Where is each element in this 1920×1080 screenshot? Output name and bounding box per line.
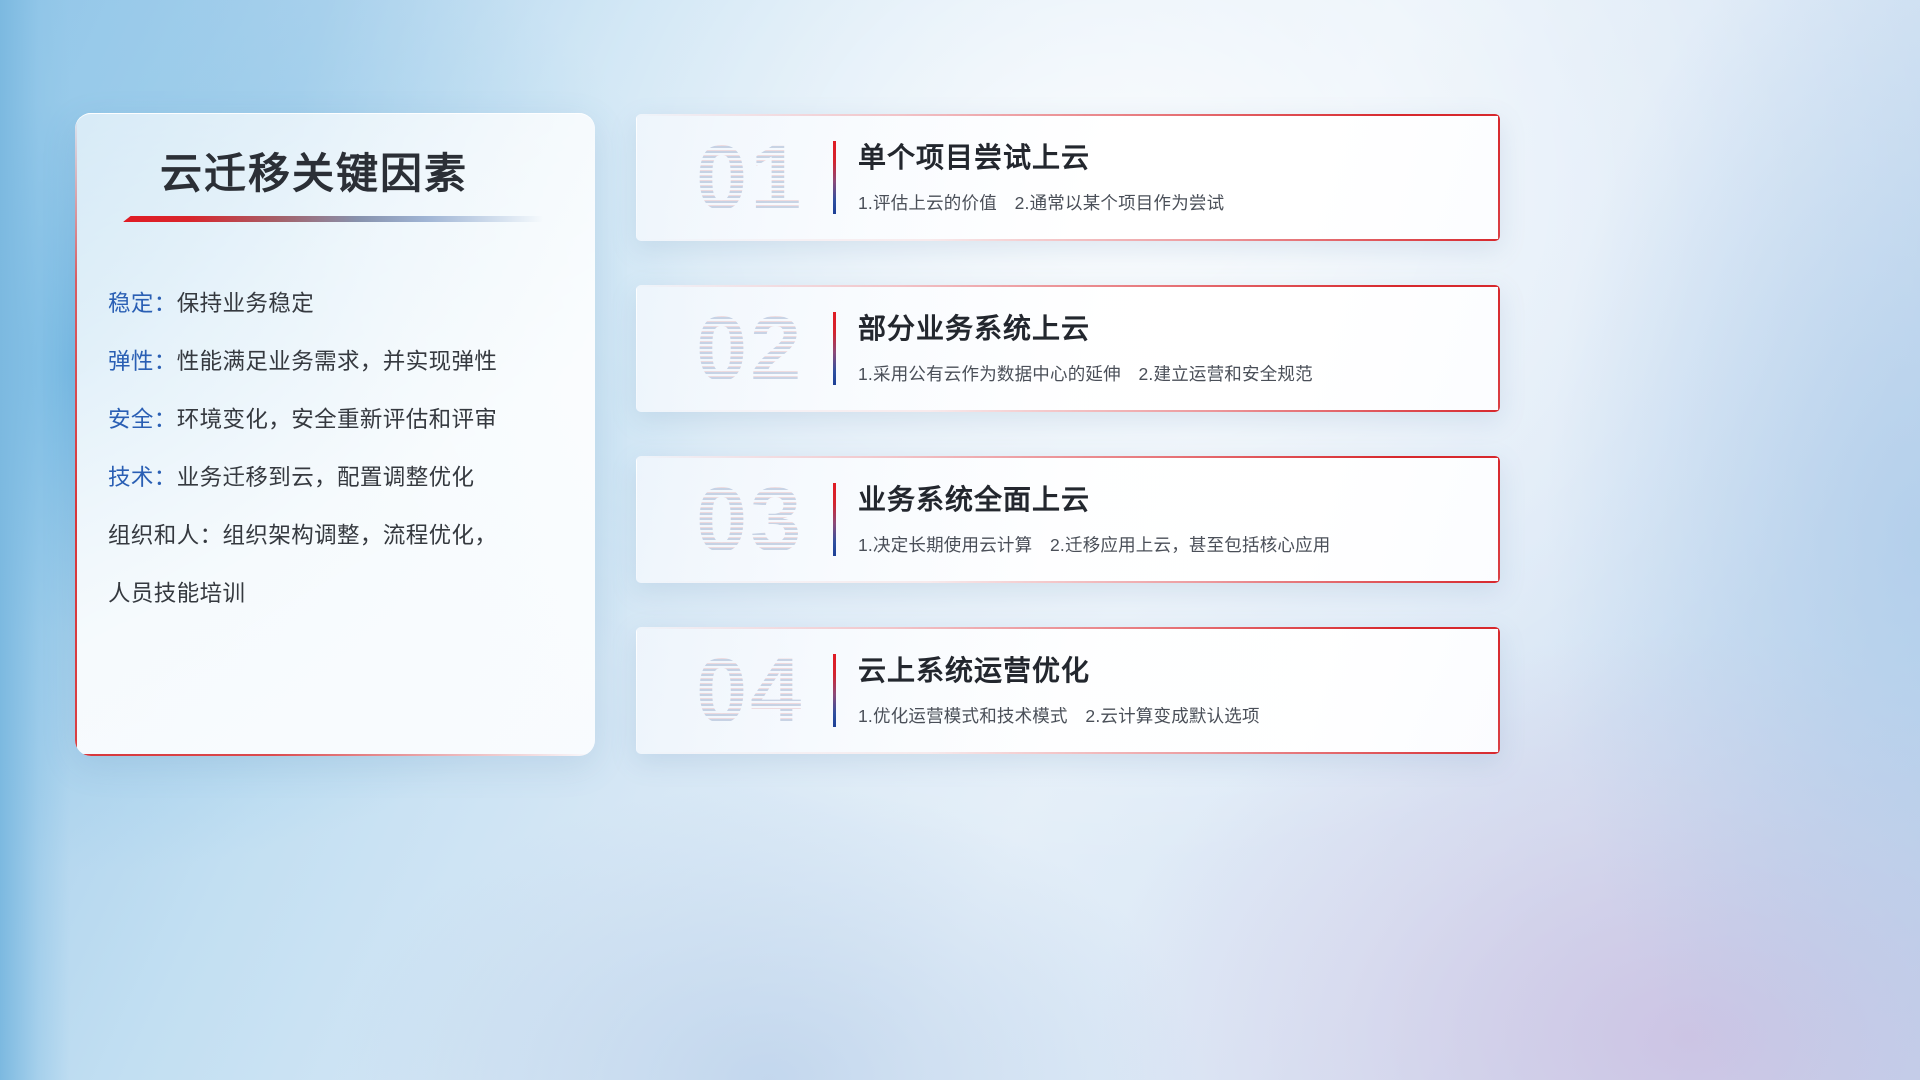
list-item: 弹性：性能满足业务需求，并实现弹性 — [108, 351, 578, 374]
stage-detail: 1.评估上云的价值 2.通常以某个项目作为尝试 — [858, 190, 1224, 215]
list-item: 技术：业务迁移到云，配置调整优化 — [108, 467, 578, 490]
factor-label: 稳定： — [108, 291, 177, 316]
card-edge-bottom-accent — [636, 752, 1500, 754]
stage-card-03[interactable]: 03 03 业务系统全面上云 1.决定长期使用云计算 2.迁移应用上云，甚至包括… — [636, 456, 1500, 583]
stage-accent-bar — [833, 141, 836, 214]
factor-text: 环境变化，安全重新评估和评审 — [177, 407, 498, 432]
card-edge-right-accent — [1498, 114, 1500, 241]
stage-title: 部分业务系统上云 — [858, 307, 1090, 347]
factor-text: 业务迁移到云，配置调整优化 — [177, 465, 475, 490]
card-edge-left — [636, 114, 637, 241]
key-factors-panel: 云迁移关键因素 稳定：保持业务稳定 弹性：性能满足业务需求，并实现弹性 安全：环… — [75, 113, 595, 756]
card-edge-left — [636, 627, 637, 754]
card-edge-right-accent — [1498, 456, 1500, 583]
card-edge-top-accent — [636, 114, 1500, 116]
stage-detail: 1.决定长期使用云计算 2.迁移应用上云，甚至包括核心应用 — [858, 532, 1331, 557]
stage-accent-bar — [833, 654, 836, 727]
factor-label: 安全： — [108, 407, 177, 432]
factor-text: 组织架构调整，流程优化， — [223, 523, 498, 548]
card-edge-top-accent — [636, 456, 1500, 458]
stage-detail: 1.优化运营模式和技术模式 2.云计算变成默认选项 — [858, 703, 1260, 728]
card-edge-bottom-accent — [636, 581, 1500, 583]
card-edge-bottom-accent — [636, 410, 1500, 412]
stage-title: 单个项目尝试上云 — [858, 136, 1090, 176]
panel-edge-top — [75, 113, 595, 114]
panel-edge-bottom-accent — [75, 754, 595, 756]
factor-text: 人员技能培训 — [108, 581, 245, 606]
list-item: 稳定：保持业务稳定 — [108, 293, 578, 316]
stage-accent-bar — [833, 483, 836, 556]
list-item: 组织和人：组织架构调整，流程优化， — [108, 525, 578, 548]
stage-card-04[interactable]: 04 04 云上系统运营优化 1.优化运营模式和技术模式 2.云计算变成默认选项 — [636, 627, 1500, 754]
card-edge-left — [636, 285, 637, 412]
factor-label: 组织和人： — [108, 523, 223, 548]
stage-card-01[interactable]: 01 01 单个项目尝试上云 1.评估上云的价值 2.通常以某个项目作为尝试 — [636, 114, 1500, 241]
background-edge-left — [0, 0, 70, 1080]
panel-edge-left-accent — [75, 113, 77, 756]
card-edge-left — [636, 456, 637, 583]
stage-accent-bar — [833, 312, 836, 385]
factor-text: 性能满足业务需求，并实现弹性 — [177, 349, 498, 374]
stage-detail: 1.采用公有云作为数据中心的延伸 2.建立运营和安全规范 — [858, 361, 1313, 386]
card-edge-right-accent — [1498, 285, 1500, 412]
list-item: 人员技能培训 — [108, 583, 578, 606]
factor-text: 保持业务稳定 — [177, 291, 314, 316]
stage-card-02[interactable]: 02 02 部分业务系统上云 1.采用公有云作为数据中心的延伸 2.建立运营和安… — [636, 285, 1500, 412]
list-item: 安全：环境变化，安全重新评估和评审 — [108, 409, 578, 432]
factor-label: 技术： — [108, 465, 177, 490]
panel-factor-list: 稳定：保持业务稳定 弹性：性能满足业务需求，并实现弹性 安全：环境变化，安全重新… — [108, 293, 578, 606]
card-edge-bottom-accent — [636, 239, 1500, 241]
card-edge-right-accent — [1498, 627, 1500, 754]
stage-title: 云上系统运营优化 — [858, 649, 1090, 689]
panel-title-underline — [123, 216, 543, 222]
factor-label: 弹性： — [108, 349, 177, 374]
stage-title: 业务系统全面上云 — [858, 478, 1090, 518]
panel-title: 云迁移关键因素 — [160, 140, 580, 201]
card-edge-top-accent — [636, 285, 1500, 287]
card-edge-top-accent — [636, 627, 1500, 629]
